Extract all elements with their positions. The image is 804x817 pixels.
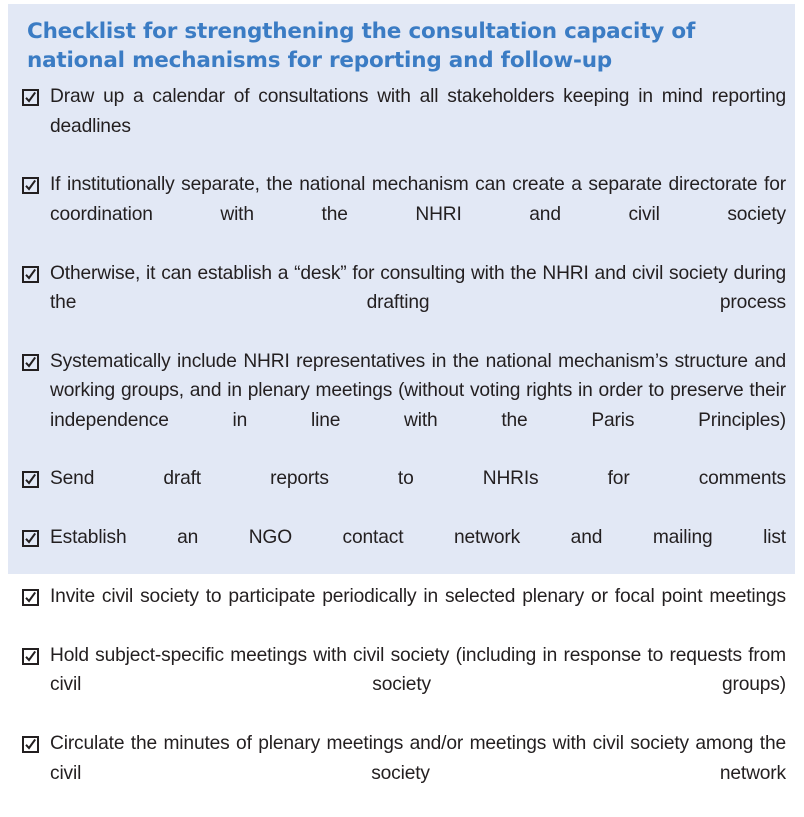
checked-box-icon (22, 464, 41, 493)
page-title: Checklist for strengthening the consulta… (22, 18, 786, 75)
list-item: Send draft reports to NHRIs for comments (22, 464, 786, 523)
list-item-label: Otherwise, it can establish a “desk” for… (50, 259, 786, 347)
list-item: If institutionally separate, the nationa… (22, 170, 786, 258)
checked-box-icon (22, 641, 41, 670)
checklist: Draw up a calendar of consultations with… (22, 82, 786, 817)
list-item-label: Circulate the minutes of plenary meeting… (50, 729, 786, 817)
list-item-label: Hold subject-specific meetings with civi… (50, 641, 786, 729)
checked-box-icon (22, 347, 41, 376)
list-item: Invite civil society to participate peri… (22, 582, 786, 641)
checked-box-icon (22, 82, 41, 111)
list-item: Otherwise, it can establish a “desk” for… (22, 259, 786, 347)
list-item-label: If institutionally separate, the nationa… (50, 170, 786, 258)
checked-box-icon (22, 170, 41, 199)
list-item: Circulate the minutes of plenary meeting… (22, 729, 786, 817)
list-item: Systematically include NHRI representati… (22, 347, 786, 465)
list-item: Draw up a calendar of consultations with… (22, 82, 786, 170)
list-item-label: Systematically include NHRI representati… (50, 347, 786, 465)
list-item: Establish an NGO contact network and mai… (22, 523, 786, 582)
checked-box-icon (22, 729, 41, 758)
list-item-label: Draw up a calendar of consultations with… (50, 82, 786, 170)
checked-box-icon (22, 259, 41, 288)
list-item-label: Send draft reports to NHRIs for comments (50, 464, 786, 523)
list-item-label: Establish an NGO contact network and mai… (50, 523, 786, 582)
checklist-panel: Checklist for strengthening the consulta… (8, 4, 795, 574)
checked-box-icon (22, 523, 41, 552)
list-item-label: Invite civil society to participate peri… (50, 582, 786, 641)
checked-box-icon (22, 582, 41, 611)
list-item: Hold subject-specific meetings with civi… (22, 641, 786, 729)
